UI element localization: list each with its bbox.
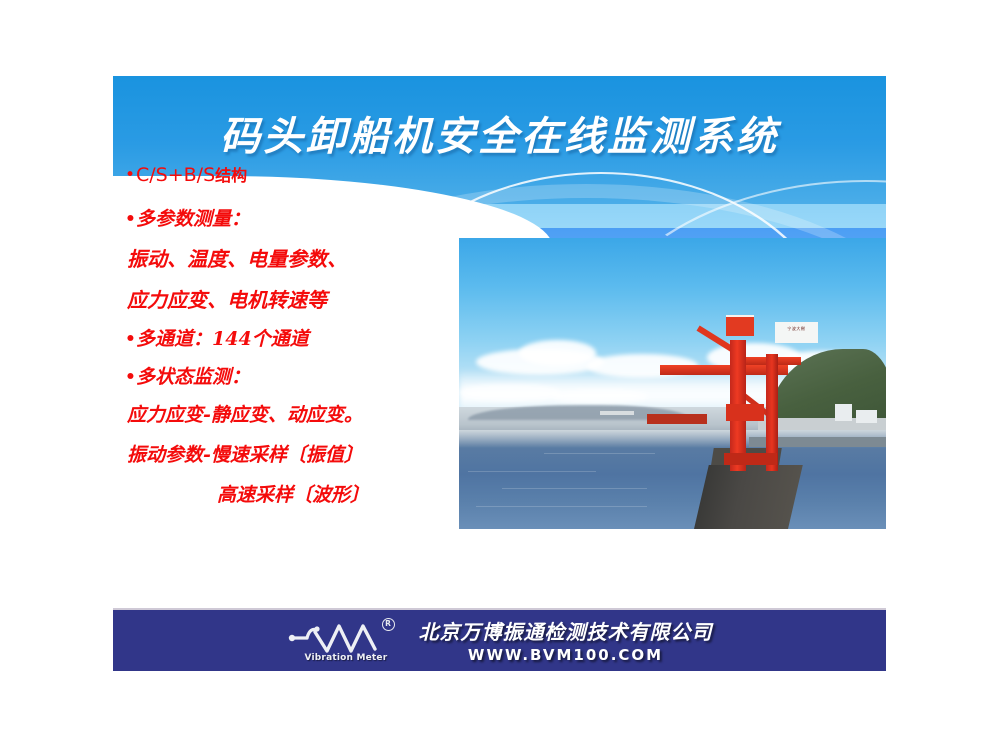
slide-canvas: 码头卸船机安全在线监测系统 C/S+B/S结构 多参数测量： 振动、温度、电量参… — [113, 76, 886, 677]
photo-ship-unloader: 宁波大榭 — [459, 238, 886, 529]
company-website[interactable]: WWW.BVM100.COM — [419, 646, 713, 664]
photo-water-ripple — [476, 506, 647, 507]
registered-trademark-icon: R — [382, 618, 395, 631]
photo-pier-walkway — [694, 465, 803, 529]
photo-cloud — [519, 340, 596, 366]
text-state-strain: 应力应变-静应变、动应变。 — [125, 406, 485, 446]
photo-water-ripple — [468, 471, 596, 472]
bullet-architecture-cn: 结构 — [215, 166, 247, 185]
bullet-architecture: C/S+B/S结构 — [125, 166, 485, 210]
bullet-multi-parameter-heading: 多参数测量： — [125, 210, 485, 249]
footer-content: Vibration Meter R 北京万博振通检测技术有限公司 WWW.BVM… — [113, 610, 886, 671]
photo-water-ripple — [502, 488, 647, 489]
company-identity: 北京万博振通检测技术有限公司 WWW.BVM100.COM — [419, 616, 713, 664]
company-logo: Vibration Meter R — [287, 618, 405, 664]
photo-crane-base — [724, 453, 777, 465]
bullet-multi-channel: 多通道：144个通道 — [125, 330, 485, 368]
photo-terminal-sign-text: 宁波大榭 — [777, 326, 816, 331]
photo-water-ripple — [544, 453, 655, 454]
text-state-vibration-fast: 高速采样〔波形〕 — [125, 486, 485, 520]
photo-crane-machine-house — [726, 315, 754, 336]
footer-bar: Vibration Meter R 北京万博振通检测技术有限公司 WWW.BVM… — [113, 608, 886, 671]
logo-wordmark: Vibration Meter — [305, 653, 388, 663]
text-state-vibration-slow: 振动参数-慢速采样〔振值〕 — [125, 446, 485, 486]
text-parameter-list-1: 振动、温度、电量参数、 — [125, 249, 485, 290]
photo-distant-vessel — [600, 411, 634, 415]
photo-building — [856, 410, 877, 423]
photo-building — [835, 404, 852, 421]
text-parameter-list-2: 应力应变、电机转速等 — [125, 290, 485, 330]
photo-crane-midsection — [726, 404, 764, 421]
bullet-architecture-ascii: C/S+B/S — [136, 164, 215, 186]
photo-barge — [647, 414, 707, 424]
bullet-multi-state-heading: 多状态监测： — [125, 368, 485, 406]
bullet-list: C/S+B/S结构 多参数测量： 振动、温度、电量参数、 应力应变、电机转速等 … — [125, 166, 485, 520]
company-name: 北京万博振通检测技术有限公司 — [419, 616, 713, 645]
page-title: 码头卸船机安全在线监测系统 — [113, 104, 886, 162]
